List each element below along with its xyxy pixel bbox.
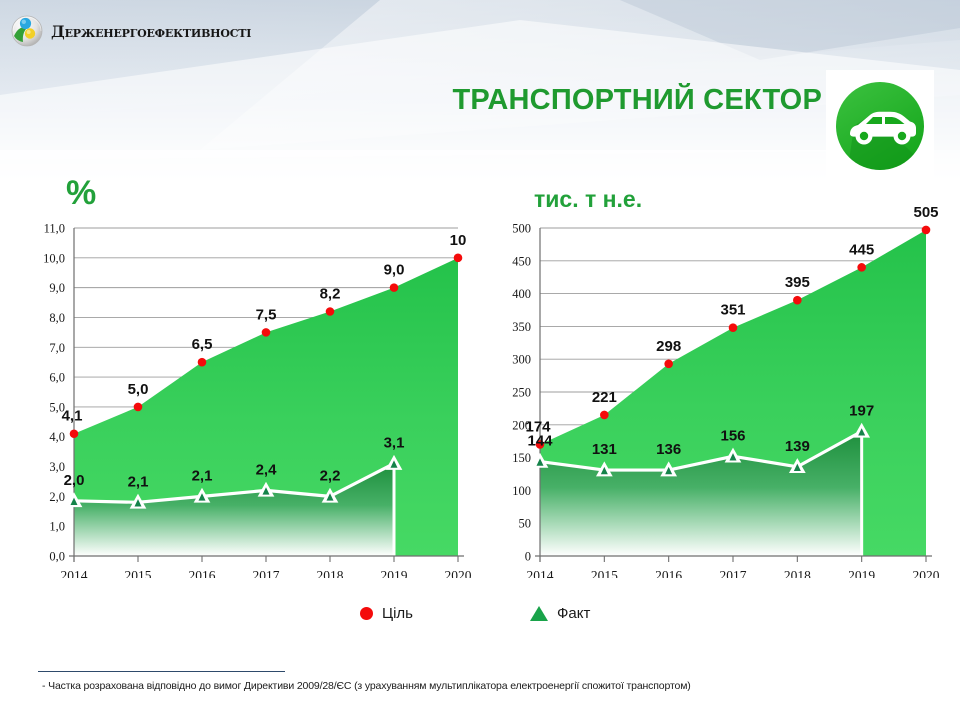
chart-ktoe-plot: 0501001502002503003504004505002014201520… [486,178,956,578]
footnote-divider [38,671,285,672]
svg-text:156: 156 [720,427,745,444]
legend-item-target: Ціль [360,605,413,622]
chart-percent: % 0,01,02,03,04,05,06,07,08,09,010,011,0… [14,178,484,608]
svg-text:2019: 2019 [381,568,408,578]
chart-percent-plot: 0,01,02,03,04,05,06,07,08,09,010,011,020… [14,178,484,578]
svg-text:300: 300 [512,353,531,367]
title-row: ТРАНСПОРТНИЙ СЕКТОР [0,72,960,177]
page-header: Держенергоефективності [0,0,960,60]
svg-text:0,0: 0,0 [49,550,65,564]
svg-text:400: 400 [512,287,531,301]
svg-text:150: 150 [512,451,531,465]
svg-text:5,0: 5,0 [128,381,149,398]
svg-text:2017: 2017 [720,568,747,578]
svg-text:0: 0 [525,550,531,564]
svg-text:2,4: 2,4 [256,461,278,478]
svg-text:2,1: 2,1 [192,467,213,484]
svg-text:131: 131 [592,441,617,458]
svg-text:8,2: 8,2 [320,285,341,302]
green-triangle-icon [530,606,548,621]
svg-text:2018: 2018 [784,568,811,578]
svg-text:7,0: 7,0 [49,341,65,355]
svg-text:136: 136 [656,441,681,458]
svg-text:2,1: 2,1 [128,473,149,490]
legend-item-fact: Факт [530,605,590,622]
svg-text:144: 144 [527,433,553,450]
svg-text:2015: 2015 [591,568,618,578]
svg-text:2020: 2020 [445,568,472,578]
svg-text:298: 298 [656,338,681,355]
svg-text:11,0: 11,0 [44,222,65,236]
red-circle-icon [360,607,373,620]
globe-logo-icon [10,14,44,48]
svg-text:2016: 2016 [189,568,216,578]
svg-text:250: 250 [512,386,531,400]
svg-text:445: 445 [849,241,874,258]
brand: Держенергоефективності [10,14,251,48]
svg-text:6,5: 6,5 [192,336,213,353]
svg-text:2014: 2014 [61,568,88,578]
svg-text:139: 139 [785,438,810,455]
svg-text:6,0: 6,0 [49,371,65,385]
svg-text:1,0: 1,0 [49,520,65,534]
svg-text:9,0: 9,0 [49,281,65,295]
footnote-text: - Частка розрахована відповідно до вимог… [42,680,952,692]
svg-text:450: 450 [512,254,531,268]
svg-text:10: 10 [450,232,467,249]
svg-text:2,2: 2,2 [320,467,341,484]
svg-text:2017: 2017 [253,568,280,578]
svg-text:100: 100 [512,484,531,498]
brand-name: Держенергоефективності [51,22,251,41]
svg-text:9,0: 9,0 [384,262,405,279]
svg-text:2,0: 2,0 [49,490,65,504]
svg-text:8,0: 8,0 [49,311,65,325]
svg-text:3,1: 3,1 [384,435,405,452]
svg-text:2014: 2014 [527,568,554,578]
page-title: ТРАНСПОРТНИЙ СЕКТОР [452,84,822,117]
svg-text:4,1: 4,1 [62,408,83,425]
legend-label-target: Ціль [382,605,413,622]
svg-text:2020: 2020 [913,568,940,578]
svg-text:395: 395 [785,274,810,291]
chart-ktoe: тис. т н.е. 0501001502002503003504004505… [486,178,956,608]
svg-text:7,5: 7,5 [256,306,277,323]
svg-text:2019: 2019 [848,568,875,578]
svg-text:197: 197 [849,402,874,419]
svg-text:4,0: 4,0 [49,430,65,444]
svg-text:500: 500 [512,222,531,236]
svg-text:2016: 2016 [655,568,682,578]
svg-text:505: 505 [913,204,938,221]
chart-legend: Ціль Факт [0,600,960,636]
svg-text:10,0: 10,0 [43,251,65,265]
legend-label-fact: Факт [557,605,590,622]
svg-text:50: 50 [519,517,532,531]
svg-text:221: 221 [592,389,617,406]
svg-text:2,0: 2,0 [64,472,85,489]
svg-text:350: 350 [512,320,531,334]
svg-text:2018: 2018 [317,568,344,578]
svg-text:351: 351 [720,302,745,319]
svg-text:2015: 2015 [125,568,152,578]
